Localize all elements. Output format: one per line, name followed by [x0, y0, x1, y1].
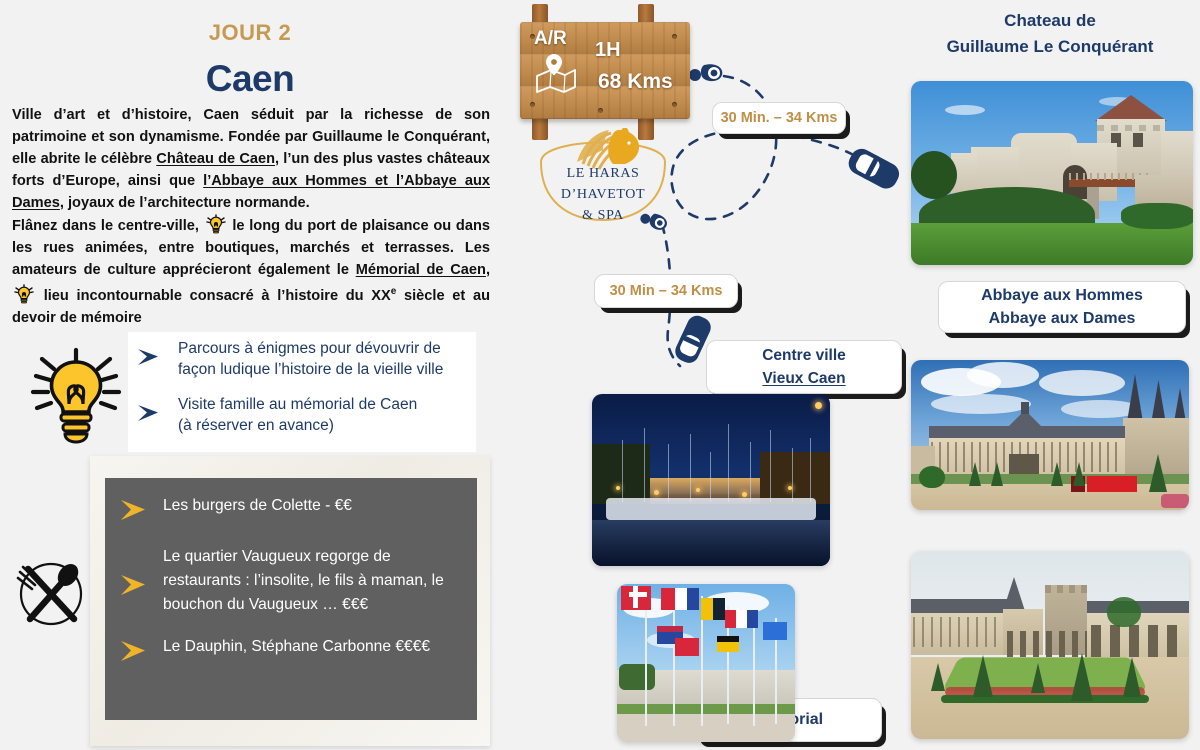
haras-logo: LE HARAS D’HAVETOT & SPA — [533, 128, 673, 226]
link-chateau-de-caen[interactable]: Château de Caen — [156, 151, 275, 167]
intro-text-7: lieu incontournable consacré à l’histoir… — [36, 288, 391, 304]
abbaye-label[interactable]: Abbaye aux Hommes Abbaye aux Dames — [938, 281, 1186, 333]
centre-ville-line-2: Vieux Caen — [762, 369, 845, 388]
logo-line-2: D’HAVETOT — [533, 187, 673, 203]
restaurant-item-text: Le quartier Vaugueux regorge de restaura… — [163, 545, 463, 617]
tip-line-2: (à réserver en avance) — [178, 417, 334, 434]
chevron-right-icon — [119, 494, 153, 527]
right-title-line-1: Chateau de — [900, 8, 1200, 34]
restaurants-card: Les burgers de Colette - €€ Le quartier … — [105, 478, 477, 720]
lightbulb-icon — [204, 214, 228, 236]
intro-text-4: Flânez dans le centre-ville, — [12, 218, 204, 234]
abbaye-aux-hommes-photo — [911, 360, 1189, 510]
tip-line-1: Parcours à énigmes pour dévouvrir de — [178, 340, 441, 357]
logo-line-3: & SPA — [533, 208, 673, 224]
itinerary-page: JOUR 2 Caen Ville d’art et d’histoire, C… — [0, 0, 1200, 750]
link-memorial-de-caen[interactable]: Mémorial de Caen — [356, 262, 486, 278]
trip-summary-sign: A/R 1H 68 Kms — [510, 4, 700, 140]
restaurant-item: Le Dauphin, Stéphane Carbonne €€€€ — [105, 635, 477, 668]
port-de-plaisance-photo — [592, 394, 830, 566]
abbaye-line-1: Abbaye aux Hommes — [981, 286, 1143, 306]
tip-item: Parcours à énigmes pour dévouvrir de faç… — [136, 338, 443, 380]
intro-paragraph: Ville d’art et d’histoire, Caen séduit p… — [12, 104, 490, 329]
trip-type-label: A/R — [534, 28, 567, 50]
tip-item-text: Parcours à énigmes pour dévouvrir de faç… — [178, 338, 443, 380]
fork-spoon-icon — [12, 555, 90, 633]
lightbulb-icon — [12, 284, 36, 306]
restaurant-item-text: Les burgers de Colette - €€ — [163, 494, 352, 518]
centre-ville-line-1: Centre ville — [762, 346, 846, 365]
lightbulb-icon — [28, 342, 124, 452]
chevron-right-icon — [119, 545, 153, 602]
tips-card: Parcours à énigmes pour dévouvrir de faç… — [128, 332, 476, 452]
abbaye-aux-dames-photo — [911, 551, 1189, 739]
memorial-de-caen-flags-photo — [617, 584, 795, 742]
page-title: Caen — [0, 58, 500, 100]
tip-line-1: Visite famille au mémorial de Caen — [178, 396, 417, 413]
leg-1-distance-label[interactable]: 30 Min. – 34 Kms — [712, 102, 846, 134]
intro-text-6: , — [486, 262, 490, 278]
tip-item: Visite famille au mémorial de Caen (à ré… — [136, 394, 417, 436]
leg-2-distance-label[interactable]: 30 Min – 34 Kms — [594, 274, 738, 308]
chevron-right-icon — [136, 347, 166, 372]
centre-ville-label[interactable]: Centre ville Vieux Caen — [706, 340, 902, 394]
chevron-right-icon — [136, 403, 166, 428]
chateau-de-caen-photo — [911, 81, 1193, 265]
restaurant-item: Le quartier Vaugueux regorge de restaura… — [105, 545, 477, 617]
right-column-title: Chateau de Guillaume Le Conquérant — [900, 8, 1200, 60]
chevron-right-icon — [119, 635, 153, 668]
logo-line-1: LE HARAS — [533, 166, 673, 182]
tip-item-text: Visite famille au mémorial de Caen (à ré… — [178, 394, 417, 436]
abbaye-line-2: Abbaye aux Dames — [989, 309, 1136, 329]
restaurant-item: Les burgers de Colette - €€ — [105, 494, 477, 527]
day-label: JOUR 2 — [0, 20, 500, 46]
right-title-line-2: Guillaume Le Conquérant — [900, 34, 1200, 60]
trip-duration-label: 1H — [595, 39, 621, 62]
map-pin-icon — [534, 54, 578, 94]
restaurant-item-text: Le Dauphin, Stéphane Carbonne €€€€ — [163, 635, 430, 659]
left-column: JOUR 2 Caen Ville d’art et d’histoire, C… — [0, 0, 500, 750]
tip-line-2: façon ludique l’histoire de la vieille v… — [178, 361, 443, 378]
trip-distance-label: 68 Kms — [598, 70, 673, 94]
intro-text-3: , joyaux de l’architecture normande. — [60, 195, 310, 211]
car-icon — [845, 145, 903, 192]
